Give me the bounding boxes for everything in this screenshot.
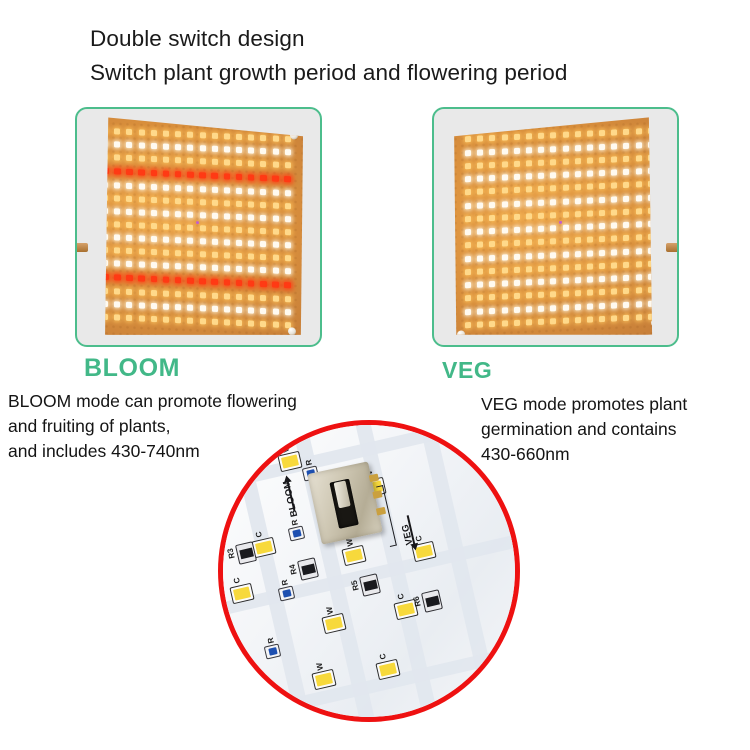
led-o <box>489 162 495 168</box>
led-w <box>465 282 471 288</box>
led-w <box>260 308 266 314</box>
led-w <box>285 242 291 248</box>
led-o <box>114 248 120 254</box>
led-o <box>465 189 471 195</box>
led-w <box>514 280 520 286</box>
led-o <box>175 291 181 297</box>
led-w <box>477 202 483 208</box>
led-r <box>114 168 121 175</box>
led-r <box>163 170 170 177</box>
led-o <box>151 316 157 322</box>
led-w <box>599 143 605 149</box>
led-o <box>636 287 642 293</box>
led-o <box>175 224 181 230</box>
led-o <box>126 129 132 135</box>
led-o <box>575 290 581 296</box>
led-w <box>151 262 157 268</box>
led-w <box>623 275 629 281</box>
led-w <box>502 227 508 233</box>
led-o <box>502 241 508 247</box>
led-w <box>550 305 556 311</box>
led-o <box>139 222 145 228</box>
led-o <box>273 136 279 142</box>
led-w <box>139 262 145 268</box>
led-w <box>139 183 145 189</box>
led-o <box>187 317 193 323</box>
led-chip-blue <box>288 525 306 541</box>
led-o <box>114 314 120 320</box>
chip-label: R5 <box>350 580 361 592</box>
led-w <box>285 149 291 155</box>
led-w <box>636 195 642 201</box>
led-o <box>538 159 544 165</box>
led-o <box>502 188 508 194</box>
led-o <box>260 135 266 141</box>
led-o <box>526 319 532 325</box>
led-o <box>139 289 145 295</box>
led-o <box>575 237 581 243</box>
led-r <box>199 278 206 285</box>
led-o <box>114 155 120 161</box>
led-w <box>599 276 605 282</box>
led-w <box>648 141 654 147</box>
led-o <box>273 162 279 168</box>
led-o <box>139 249 145 255</box>
chip-label: R4 <box>288 564 299 576</box>
led-o <box>126 248 132 254</box>
led-w <box>489 175 495 181</box>
led-o <box>465 163 471 169</box>
led-w <box>126 142 132 148</box>
led-o <box>648 207 654 213</box>
led-r <box>211 278 218 285</box>
led-o <box>489 268 495 274</box>
led-o <box>187 132 193 138</box>
led-o <box>236 160 242 166</box>
led-w <box>151 184 157 190</box>
led-w <box>563 225 569 231</box>
veg-led-board <box>452 112 666 344</box>
led-o <box>236 201 242 207</box>
led-o <box>611 262 617 268</box>
led-o <box>514 134 520 140</box>
led-o <box>538 265 544 271</box>
led-w <box>248 307 254 313</box>
led-o <box>102 154 108 160</box>
led-w <box>151 143 157 149</box>
led-o <box>587 131 593 137</box>
led-r <box>248 280 255 287</box>
led-o <box>526 239 532 245</box>
led-o <box>236 293 242 299</box>
led-w <box>224 147 230 153</box>
led-o <box>273 255 279 261</box>
led-o <box>151 249 157 255</box>
led-o <box>175 198 181 204</box>
led-r <box>260 175 267 182</box>
led-o <box>623 156 629 162</box>
led-o <box>587 316 593 322</box>
led-o <box>538 318 544 324</box>
led-o <box>248 161 254 167</box>
led-w <box>623 301 629 307</box>
led-w <box>200 212 206 218</box>
led-w <box>636 168 642 174</box>
led-r <box>224 173 231 180</box>
led-w <box>550 225 556 231</box>
led-o <box>648 128 654 134</box>
led-o <box>273 321 279 327</box>
led-w <box>563 198 569 204</box>
led-o <box>502 135 508 141</box>
screw-icon <box>457 330 465 338</box>
led-o <box>151 130 157 136</box>
led-r <box>126 275 133 282</box>
led-w <box>502 174 508 180</box>
led-w <box>187 264 193 270</box>
led-w <box>587 223 593 229</box>
led-w <box>526 147 532 153</box>
led-w <box>200 265 206 271</box>
led-w <box>587 197 593 203</box>
led-o <box>236 320 242 326</box>
led-o <box>187 158 193 164</box>
led-o <box>550 212 556 218</box>
led-o <box>636 208 642 214</box>
led-o <box>514 293 520 299</box>
board-connector-icon <box>666 243 679 252</box>
led-o <box>248 227 254 233</box>
led-w <box>175 304 181 310</box>
bloom-veg-toggle-switch[interactable] <box>307 461 383 544</box>
led-w <box>248 214 254 220</box>
led-w <box>538 146 544 152</box>
led-w <box>502 307 508 313</box>
led-o <box>102 221 108 227</box>
led-w <box>623 222 629 228</box>
led-w <box>514 306 520 312</box>
led-w <box>514 174 520 180</box>
chip-label: C <box>414 535 424 543</box>
screw-icon <box>94 321 102 329</box>
led-o <box>236 227 242 233</box>
led-w <box>175 237 181 243</box>
screw-icon <box>651 318 659 326</box>
led-o <box>526 266 532 272</box>
led-r <box>151 276 158 283</box>
led-o <box>514 187 520 193</box>
pcb-surface: CCCCCWWWWWRRRRR3R4R5R6 BLOOM VEG <box>218 420 520 722</box>
led-o <box>477 215 483 221</box>
led-o <box>489 135 495 141</box>
led-w <box>538 173 544 179</box>
led-w <box>212 239 218 245</box>
led-w <box>563 304 569 310</box>
led-o <box>477 189 483 195</box>
led-w <box>611 169 617 175</box>
led-w <box>102 300 108 306</box>
headline-line-1: Double switch design <box>90 22 710 56</box>
led-w <box>623 195 629 201</box>
led-o <box>575 264 581 270</box>
led-w <box>200 186 206 192</box>
veg-mode-label: VEG <box>442 357 492 384</box>
led-w <box>502 148 508 154</box>
led-o <box>248 201 254 207</box>
led-o <box>611 289 617 295</box>
screw-icon <box>96 118 104 126</box>
led-o <box>248 320 254 326</box>
led-w <box>623 142 629 148</box>
led-o <box>163 316 169 322</box>
led-o <box>563 264 569 270</box>
led-w <box>224 213 230 219</box>
led-o <box>550 132 556 138</box>
led-w <box>102 208 108 214</box>
led-w <box>151 303 157 309</box>
led-r <box>126 169 133 176</box>
led-o <box>260 254 266 260</box>
led-o <box>102 128 108 134</box>
led-r <box>236 174 243 181</box>
led-o <box>636 234 642 240</box>
led-o <box>575 211 581 217</box>
led-w <box>477 308 483 314</box>
led-w <box>502 280 508 286</box>
veg-description-line-1: VEG mode promotes plant <box>481 392 687 417</box>
led-o <box>611 315 617 321</box>
led-w <box>273 308 279 314</box>
led-o <box>285 255 291 261</box>
led-w <box>248 240 254 246</box>
led-r <box>151 170 158 177</box>
led-w <box>526 279 532 285</box>
led-w <box>611 302 617 308</box>
led-o <box>477 162 483 168</box>
led-w <box>489 281 495 287</box>
chip-label: R6 <box>412 596 423 608</box>
led-o <box>623 235 629 241</box>
led-w <box>273 242 279 248</box>
led-o <box>538 212 544 218</box>
led-w <box>114 301 120 307</box>
led-w <box>465 176 471 182</box>
led-o <box>200 132 206 138</box>
led-w <box>563 145 569 151</box>
led-w <box>489 307 495 313</box>
led-w <box>465 149 471 155</box>
led-o <box>151 156 157 162</box>
led-w <box>648 168 654 174</box>
led-o <box>163 290 169 296</box>
led-r <box>272 281 279 288</box>
led-o <box>200 318 206 324</box>
led-o <box>611 183 617 189</box>
veg-led-grid <box>452 112 666 344</box>
led-w <box>260 189 266 195</box>
led-w <box>489 148 495 154</box>
led-o <box>599 236 605 242</box>
led-o <box>260 202 266 208</box>
led-o <box>526 186 532 192</box>
led-w <box>151 236 157 242</box>
switch-bloom-label: BLOOM <box>281 479 300 518</box>
led-w <box>126 209 132 215</box>
led-o <box>623 288 629 294</box>
led-w <box>587 170 593 176</box>
led-o <box>236 253 242 259</box>
board-connector-icon <box>75 243 88 252</box>
led-o <box>465 242 471 248</box>
led-w <box>114 234 120 240</box>
led-w <box>187 145 193 151</box>
led-o <box>587 184 593 190</box>
led-w <box>538 305 544 311</box>
led-r <box>114 274 121 281</box>
led-w <box>648 247 654 253</box>
led-w <box>126 261 132 267</box>
led-w <box>224 239 230 245</box>
magnified-switch-detail: CCCCCWWWWWRRRRR3R4R5R6 BLOOM VEG <box>218 420 520 722</box>
led-w <box>236 187 242 193</box>
led-o <box>648 287 654 293</box>
led-o <box>526 213 532 219</box>
led-row <box>465 312 654 329</box>
led-o <box>163 223 169 229</box>
led-o <box>139 196 145 202</box>
led-r <box>248 174 255 181</box>
screw-icon <box>653 122 661 130</box>
led-chip-yellow <box>341 545 366 567</box>
led-w <box>636 301 642 307</box>
led-o <box>114 288 120 294</box>
led-w <box>175 144 181 150</box>
resistor-chip <box>297 557 319 581</box>
led-o <box>477 268 483 274</box>
led-w <box>224 266 230 272</box>
led-w <box>273 189 279 195</box>
led-w <box>599 249 605 255</box>
led-w <box>623 169 629 175</box>
led-w <box>187 211 193 217</box>
led-w <box>575 277 581 283</box>
led-o <box>285 203 291 209</box>
led-o <box>187 251 193 257</box>
led-w <box>575 304 581 310</box>
led-w <box>212 305 218 311</box>
led-o <box>575 184 581 190</box>
led-w <box>102 141 108 147</box>
led-w <box>236 147 242 153</box>
led-w <box>477 149 483 155</box>
led-w <box>575 251 581 257</box>
led-o <box>200 292 206 298</box>
led-o <box>514 214 520 220</box>
chip-label: C <box>232 577 242 585</box>
led-o <box>175 131 181 137</box>
led-o <box>126 222 132 228</box>
led-o <box>465 295 471 301</box>
led-w <box>489 254 495 260</box>
led-w <box>575 198 581 204</box>
led-o <box>648 260 654 266</box>
led-w <box>563 251 569 257</box>
led-w <box>538 199 544 205</box>
led-o <box>502 267 508 273</box>
led-o <box>514 240 520 246</box>
led-w <box>636 221 642 227</box>
led-o <box>465 322 471 328</box>
led-o <box>212 226 218 232</box>
led-o <box>187 225 193 231</box>
led-w <box>285 190 291 196</box>
led-o <box>623 315 629 321</box>
led-o <box>538 239 544 245</box>
led-o <box>611 156 617 162</box>
led-o <box>502 214 508 220</box>
led-o <box>102 194 108 200</box>
led-o <box>611 209 617 215</box>
bloom-led-grid <box>89 112 303 344</box>
led-o <box>114 195 120 201</box>
led-o <box>611 130 617 136</box>
led-o <box>260 228 266 234</box>
led-w <box>514 227 520 233</box>
led-o <box>175 157 181 163</box>
led-r <box>138 169 145 176</box>
led-w <box>163 303 169 309</box>
led-o <box>151 223 157 229</box>
led-o <box>200 159 206 165</box>
led-r <box>138 275 145 282</box>
led-o <box>285 296 291 302</box>
led-o <box>212 199 218 205</box>
led-o <box>489 294 495 300</box>
led-o <box>102 247 108 253</box>
led-w <box>575 171 581 177</box>
led-w <box>465 308 471 314</box>
led-w <box>587 250 593 256</box>
led-w <box>236 240 242 246</box>
led-r <box>175 277 182 284</box>
led-w <box>575 145 581 151</box>
led-o <box>151 197 157 203</box>
led-w <box>611 143 617 149</box>
led-o <box>224 293 230 299</box>
led-w <box>514 147 520 153</box>
led-w <box>489 228 495 234</box>
led-r <box>102 167 109 174</box>
led-w <box>550 278 556 284</box>
led-o <box>648 181 654 187</box>
led-w <box>163 144 169 150</box>
led-o <box>212 319 218 325</box>
led-o <box>514 267 520 273</box>
led-o <box>139 315 145 321</box>
led-o <box>648 154 654 160</box>
led-o <box>550 185 556 191</box>
led-o <box>200 225 206 231</box>
led-r <box>175 171 182 178</box>
led-w <box>212 186 218 192</box>
led-w <box>538 279 544 285</box>
led-o <box>163 250 169 256</box>
led-o <box>623 262 629 268</box>
led-w <box>248 188 254 194</box>
led-o <box>550 265 556 271</box>
led-o <box>163 131 169 137</box>
led-r <box>102 273 109 280</box>
